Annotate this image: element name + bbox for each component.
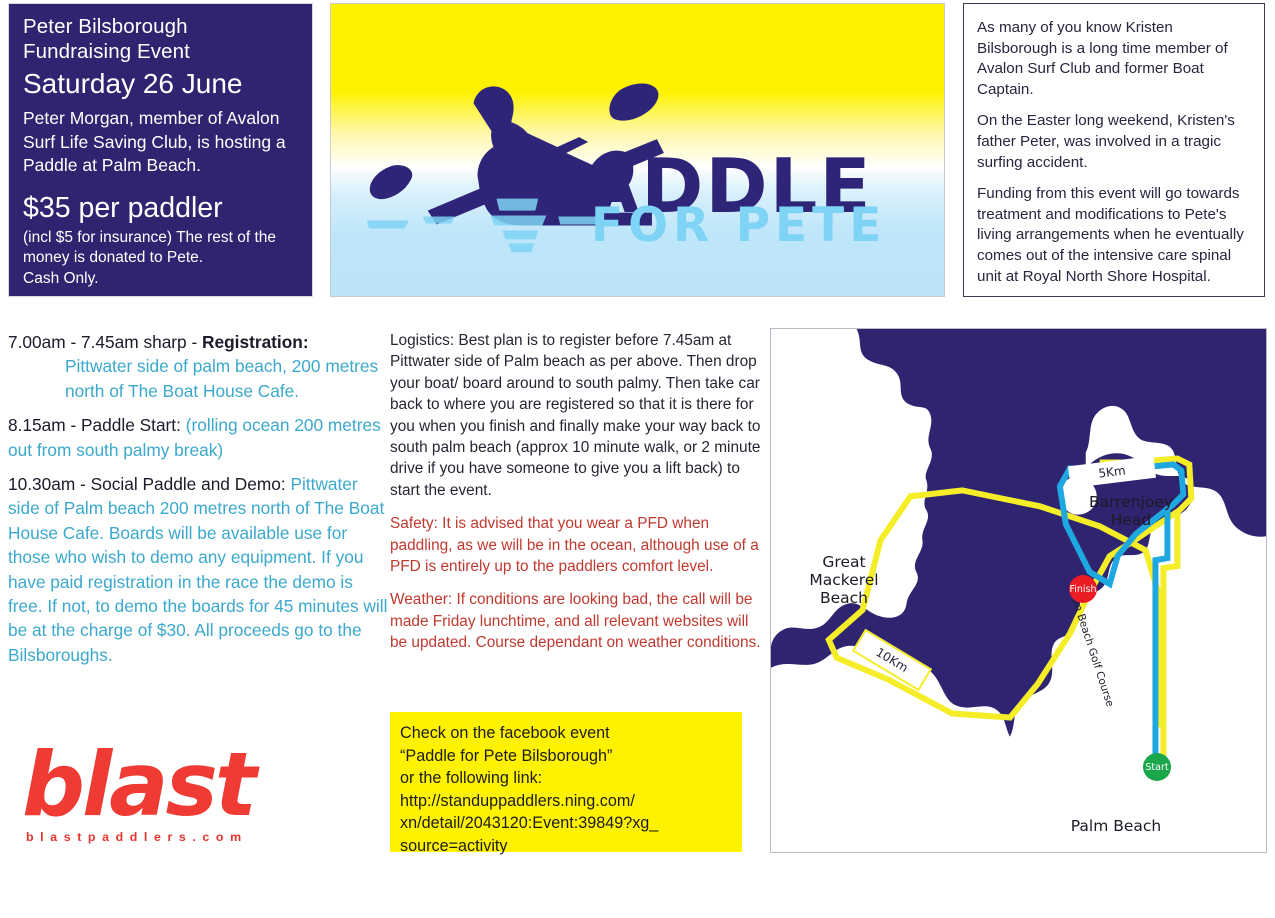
hero-description: Peter Morgan, member of Avalon Surf Life… [23,107,300,178]
schedule-time-2: 8.15am - [8,415,81,435]
start-marker: Start [1143,753,1171,781]
price-fine-print: (incl $5 for insurance) The rest of the … [23,228,300,290]
map-label-barrenjoey-head: Barrenjoey Head [1071,493,1191,529]
event-url-line-3[interactable]: source=activity [400,835,732,858]
facebook-link-box[interactable]: Check on the facebook event “Paddle for … [390,712,742,852]
flyer-page: Peter Bilsborough Fundraising Event Satu… [0,0,1275,918]
facebook-line-3: or the following link: [400,767,732,790]
blast-logo: blast blastpaddlers.com [22,742,362,844]
schedule-detail-3: Pittwater side of Palm beach 200 metres … [8,474,387,665]
schedule-time-1: 7.00am - 7.45am sharp - [8,332,202,352]
map-label-palm-beach: Palm Beach [1051,817,1181,835]
schedule-heading-3: Social Paddle and Demo: [91,474,286,494]
weather-paragraph: Weather: If conditions are looking bad, … [390,589,762,653]
story-paragraph-2: On the Easter long weekend, Kristen's fa… [977,111,1251,173]
course-map: 5Km 10Km Great Mackerel Beach Barrenjoey… [770,328,1267,853]
distance-marker-5km-label: 5Km [1098,463,1127,480]
hero-title-line1: Peter Bilsborough [23,14,300,39]
hero-title-line2: Fundraising Event [23,39,300,64]
finish-marker-label: Finish [1069,584,1096,595]
safety-paragraph: Safety: It is advised that you wear a PF… [390,513,762,577]
hero-panel: Peter Bilsborough Fundraising Event Satu… [8,3,313,297]
logistics-paragraph: Logistics: Best plan is to register befo… [390,330,762,501]
price-label: $35 per paddler [23,191,300,225]
facebook-line-1: Check on the facebook event [400,722,732,745]
schedule-column: 7.00am - 7.45am sharp - Registration: Pi… [8,330,388,677]
start-marker-label: Start [1145,762,1168,773]
schedule-detail-1: Pittwater side of palm beach, 200 metres… [8,354,388,403]
schedule-item-paddle-start: 8.15am - Paddle Start: (rolling ocean 20… [8,413,388,462]
blast-wordmark: blast [22,742,362,828]
story-paragraph-3: Funding from this event will go towards … [977,184,1251,287]
schedule-heading-1: Registration: [202,332,309,352]
banner-subtitle: FOR PETE [591,202,886,249]
schedule-heading-2: Paddle Start: [81,415,181,435]
schedule-item-social-paddle: 10.30am - Social Paddle and Demo: Pittwa… [8,472,388,667]
event-url-line-2[interactable]: xn/detail/2043120:Event:39849?xg_ [400,812,732,835]
event-url-line-1[interactable]: http://standuppaddlers.ning.com/ [400,790,732,813]
schedule-time-3: 10.30am - [8,474,91,494]
details-column: Logistics: Best plan is to register befo… [390,330,762,666]
map-label-pittwater: Pittwater [861,711,981,729]
story-paragraph-1: As many of you know Kristen Bilsborough … [977,18,1251,100]
map-label-great-mackerel-beach: Great Mackerel Beach [789,553,899,607]
schedule-item-registration: 7.00am - 7.45am sharp - Registration: Pi… [8,330,388,403]
facebook-line-2: “Paddle for Pete Bilsborough” [400,745,732,768]
finish-marker: Finish [1069,575,1097,603]
event-date: Saturday 26 June [23,66,300,101]
paddle-for-pete-banner: PADDLE FOR PETE [330,3,945,297]
blast-domain: blastpaddlers.com [22,830,362,844]
story-panel: As many of you know Kristen Bilsborough … [963,3,1265,297]
